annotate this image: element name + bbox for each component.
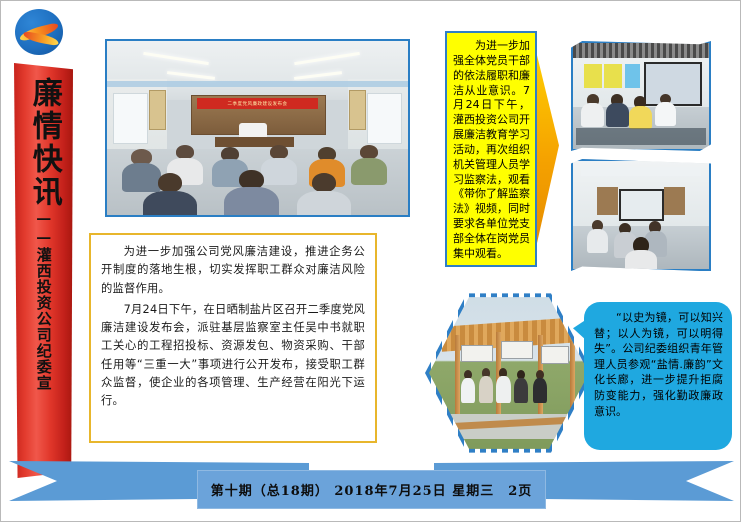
photo-wall-panel	[597, 187, 617, 215]
photo-wall-scroll	[349, 90, 366, 130]
photo-audience-body	[143, 191, 197, 217]
photo-audience-body	[122, 163, 161, 193]
yellow-callout-text: 为进一步加强全体党员干部的依法履职和廉洁从业意识。7月24日下午，灌西投资公司开…	[453, 39, 530, 262]
photo-visitor-body	[496, 376, 510, 403]
photo-pergola-post	[455, 335, 460, 427]
photo-ceiling-grid	[573, 43, 709, 58]
hexagon-photo-content	[429, 294, 589, 452]
photo-culture-corridor	[425, 290, 593, 456]
photo-attendee-body	[581, 103, 604, 126]
blue-quote-box: “以史为镜，可以知兴替；以人为镜，可以明得失”。公司纪委组织青年管理人员参观“盐…	[584, 302, 732, 450]
photo-display-panel	[461, 345, 493, 363]
photo-wall-panel	[664, 187, 684, 215]
photo-window-right	[367, 93, 402, 144]
photo-audience-body	[297, 191, 351, 217]
article-paragraph-2: 7月24日下午，在日晒制盐片区召开二季度党风廉洁建设发布会，派驻基层监察室主任吴…	[101, 301, 365, 411]
article-paragraph-1: 为进一步加强公司党风廉洁建设，推进企务公开制度的落地生根，切实发挥职工群众对廉洁…	[101, 243, 365, 298]
photo-attendee-body	[655, 102, 677, 125]
footer-issue-text: 第十期（总18期） 2018年7月25日 星期三 2页	[211, 480, 533, 499]
photo-visitor-body	[514, 378, 528, 403]
company-logo	[10, 7, 68, 57]
photo-attendee-body	[606, 103, 629, 126]
photo-video-viewing	[571, 159, 711, 271]
footer-ribbon: 第十期（总18期） 2018年7月25日 星期三 2页	[1, 451, 741, 509]
yellow-callout-box: 为进一步加强全体党员干部的依法履职和廉洁从业意识。7月24日下午，灌西投资公司开…	[445, 31, 537, 267]
article-text-box: 为进一步加强公司党风廉洁建设，推进企务公开制度的落地生根，切实发挥职工群众对廉洁…	[89, 233, 377, 443]
photo-attendee-body	[587, 229, 609, 253]
photo-window-left	[113, 93, 148, 144]
photo-display-board	[584, 64, 602, 87]
photo-attendee-body	[629, 106, 652, 129]
photo-audience-head	[239, 170, 263, 189]
photo-display-panel	[501, 341, 533, 359]
photo-projection-screen	[644, 62, 702, 106]
photo-visitor-body	[533, 378, 547, 403]
photo-audience-body	[261, 158, 297, 186]
blue-quote-text: “以史为镜，可以知兴替；以人为镜，可以明得失”。公司纪委组织青年管理人员参观“盐…	[594, 310, 723, 419]
photo-ceiling	[581, 167, 701, 176]
yellow-callout-arrow	[535, 47, 559, 252]
photo-visitor-body	[461, 378, 475, 403]
photo-wall-scroll	[149, 90, 166, 130]
photo-display-board	[604, 64, 622, 87]
photo-projection-screen	[619, 189, 664, 221]
newsletter-page: 廉情快讯——灌西投资公司纪委宣 二季度党风廉政建设发布会	[0, 0, 741, 522]
photo-audience-body	[351, 158, 387, 186]
photo-audience-head	[158, 173, 182, 192]
photo-display-board	[625, 64, 640, 87]
photo-seat-row	[576, 128, 707, 145]
photo-attendee-body	[625, 250, 658, 271]
photo-display-panel	[541, 346, 569, 364]
photo-visitor-body	[479, 376, 493, 403]
footer-center-panel: 第十期（总18期） 2018年7月25日 星期三 2页	[197, 470, 546, 509]
photo-audience-body	[224, 187, 278, 217]
photo-meeting-banner: 二季度党风廉政建设发布会	[197, 98, 317, 108]
photo-training-room-projector	[571, 41, 711, 151]
photo-meeting-hall: 二季度党风廉政建设发布会	[105, 39, 410, 217]
photo-wall-band	[107, 81, 408, 87]
photo-audience-head	[312, 173, 336, 192]
masthead-banner	[14, 63, 73, 478]
